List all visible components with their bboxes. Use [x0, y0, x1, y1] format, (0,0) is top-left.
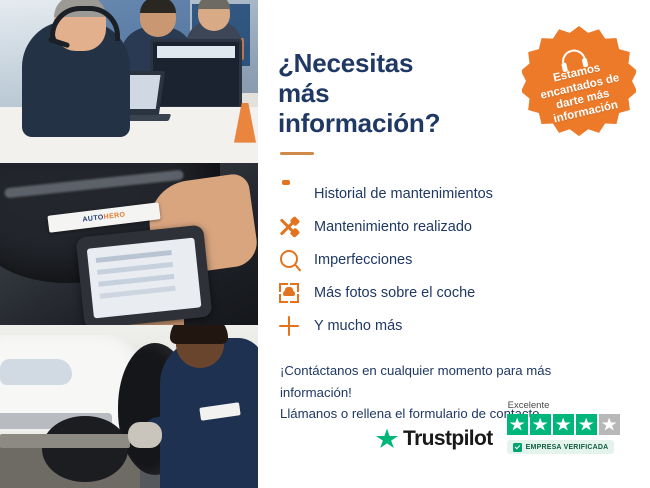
rear-wheel — [42, 416, 128, 482]
trustpilot-logo: Trustpilot — [376, 427, 493, 454]
star-filled — [576, 414, 597, 435]
info-promo-card: AUTOHERO — [0, 0, 650, 488]
feature-label: Más fotos sobre el coche — [314, 285, 475, 301]
star-filled — [530, 414, 551, 435]
promo-badge: Estamos encantados de darte más informac… — [522, 26, 636, 140]
list-item: Más fotos sobre el coche — [278, 276, 624, 309]
page-title: ¿Necesitas más información? — [278, 48, 498, 138]
inspection-tablet — [76, 225, 213, 325]
feature-label: Y mucho más — [314, 318, 402, 334]
feature-label: Historial de mantenimientos — [314, 186, 493, 202]
verified-label: EMPRESA VERIFICADA — [526, 444, 609, 451]
ruler-brand-hero: HERO — [103, 211, 126, 221]
content-panel: Estamos encantados de darte más informac… — [258, 0, 650, 488]
tablet-screen — [87, 238, 202, 319]
feature-label: Mantenimiento realizado — [314, 219, 472, 235]
trustpilot-star-icon — [376, 429, 398, 450]
mechanic-glove — [128, 422, 162, 448]
agent-back-hair — [198, 0, 230, 9]
ruler-brand-auto: AUTO — [82, 214, 104, 224]
mechanic-wheel-inspection-photo — [0, 325, 258, 488]
title-divider — [280, 152, 314, 155]
agent-mid-hair — [140, 0, 176, 13]
tools-cross-icon — [278, 216, 300, 238]
title-line-1: ¿Necesitas — [278, 48, 413, 78]
feature-label: Imperfecciones — [314, 252, 412, 268]
star-filled — [553, 414, 574, 435]
badge-text: Estamos encantados de darte más informac… — [525, 56, 638, 132]
plus-icon — [278, 315, 300, 337]
trustpilot-rating-label: Excelente — [508, 400, 550, 411]
list-item: Imperfecciones — [278, 243, 624, 276]
star-empty — [599, 414, 620, 435]
contact-line-1: ¡Contáctanos en cualquier momento para m… — [280, 363, 551, 399]
magnifier-icon — [278, 249, 300, 271]
check-icon — [513, 443, 522, 452]
title-line-2: más información? — [278, 78, 440, 138]
clipboard-check-icon — [278, 183, 300, 205]
mechanic-hair — [170, 325, 228, 344]
headlight — [0, 359, 72, 385]
list-item: Mantenimiento realizado — [278, 210, 624, 243]
list-item: Historial de mantenimientos — [278, 177, 624, 210]
trustpilot-wordmark: Trustpilot — [403, 427, 493, 451]
star-filled — [507, 414, 528, 435]
headset-icon — [560, 47, 587, 67]
verified-company-badge: EMPRESA VERIFICADA — [507, 440, 615, 454]
car-inspection-ruler-photo: AUTOHERO — [0, 163, 258, 326]
car-frame-icon — [278, 282, 300, 304]
car-lift-arm — [0, 434, 130, 448]
photo-strip: AUTOHERO — [0, 0, 258, 488]
list-item: Y mucho más — [278, 309, 624, 342]
trustpilot-stars — [507, 414, 620, 435]
call-center-agents-photo — [0, 0, 258, 163]
trustpilot-block: Trustpilot Excelente EMPRESA VERIFICADA — [376, 400, 620, 454]
feature-list: Historial de mantenimientos Mantenimient… — [278, 177, 624, 342]
